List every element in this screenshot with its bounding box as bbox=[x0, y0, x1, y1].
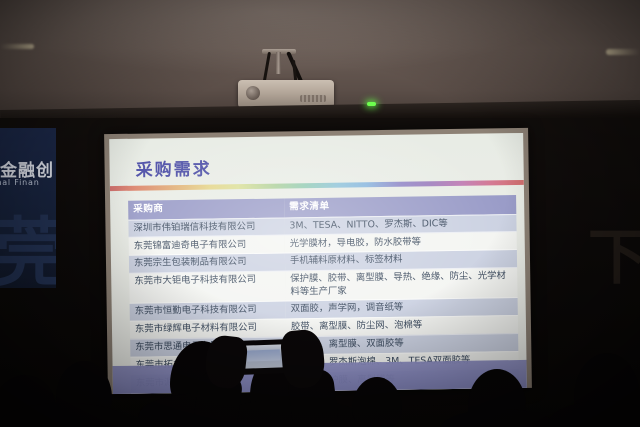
banner-left: 际金融创 ational Finan 莞 bbox=[0, 128, 56, 288]
slide-title: 采购需求 bbox=[135, 155, 211, 181]
ceiling-light-right-icon bbox=[606, 49, 640, 55]
ceiling-light-left-icon bbox=[0, 44, 34, 49]
slide-rainbow-divider bbox=[110, 180, 524, 191]
cell-buyer: 东莞市大钜电子科技有限公司 bbox=[129, 271, 285, 303]
banner-left-english: ational Finan bbox=[0, 178, 40, 187]
cell-buyer: 东莞宗生包装制品有限公司 bbox=[129, 253, 285, 273]
status-led-indicator bbox=[367, 102, 376, 106]
projector-lens-icon bbox=[246, 86, 260, 100]
cell-demand: 保护膜、胶带、离型膜、导热、绝缘、防尘、光学材料等生产厂家 bbox=[285, 268, 517, 302]
conference-room-scene: 际金融创 ational Finan 莞 下 采购需求 采购商 需求清单 深圳市… bbox=[0, 0, 640, 427]
cell-buyer: 东莞市恒勤电子科技有限公司 bbox=[130, 301, 286, 321]
column-header-buyer: 采购商 bbox=[128, 198, 284, 219]
cell-buyer: 东莞市绿辉电子材料有限公司 bbox=[130, 319, 286, 339]
camera-lcd-preview-image bbox=[247, 349, 280, 361]
projector-vent bbox=[300, 95, 326, 102]
cell-buyer: 深圳市伟铂瑞信科技有限公司 bbox=[128, 218, 284, 238]
banner-right-large-char: 下 bbox=[588, 228, 640, 288]
projector-mount-pole bbox=[276, 52, 281, 74]
cell-buyer: 东莞锦富迪奇电子有限公司 bbox=[129, 235, 285, 255]
banner-left-large-char: 莞 bbox=[0, 216, 56, 288]
